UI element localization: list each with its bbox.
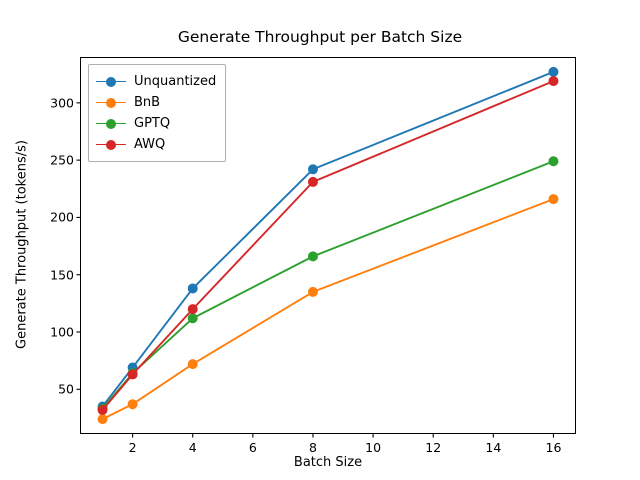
- chart-title: Generate Throughput per Batch Size: [0, 28, 640, 46]
- x-tick-label: 2: [113, 440, 153, 455]
- legend-label: GPTQ: [134, 116, 170, 131]
- chart-legend: UnquantizedBnBGPTQAWQ: [88, 64, 226, 162]
- legend-label: AWQ: [134, 137, 165, 152]
- legend-item-bnb: BnB: [96, 92, 216, 113]
- y-axis-ticks: 50100150200250300: [30, 0, 74, 480]
- legend-item-awq: AWQ: [96, 134, 216, 155]
- legend-marker-icon: [96, 75, 126, 89]
- y-tick-label: 300: [34, 95, 74, 110]
- legend-marker-icon: [96, 117, 126, 131]
- x-tick-label: 6: [233, 440, 273, 455]
- y-tick-label: 50: [34, 382, 74, 397]
- y-tick-label: 250: [34, 153, 74, 168]
- chart-figure: Generate Throughput per Batch Size Gener…: [0, 0, 640, 480]
- x-tick-label: 12: [413, 440, 453, 455]
- y-tick-label: 200: [34, 210, 74, 225]
- x-tick-label: 4: [173, 440, 213, 455]
- legend-label: BnB: [134, 95, 160, 110]
- legend-item-unquantized: Unquantized: [96, 71, 216, 92]
- y-axis-label: Generate Throughput (tokens/s): [15, 64, 30, 424]
- y-tick-label: 150: [34, 267, 74, 282]
- legend-marker-icon: [96, 96, 126, 110]
- x-axis-ticks: 246810121416: [0, 440, 640, 460]
- legend-marker-icon: [96, 138, 126, 152]
- x-tick-label: 14: [473, 440, 513, 455]
- x-tick-label: 16: [533, 440, 573, 455]
- legend-label: Unquantized: [134, 74, 216, 89]
- x-tick-label: 8: [293, 440, 333, 455]
- y-tick-label: 100: [34, 325, 74, 340]
- legend-item-gptq: GPTQ: [96, 113, 216, 134]
- x-tick-label: 10: [353, 440, 393, 455]
